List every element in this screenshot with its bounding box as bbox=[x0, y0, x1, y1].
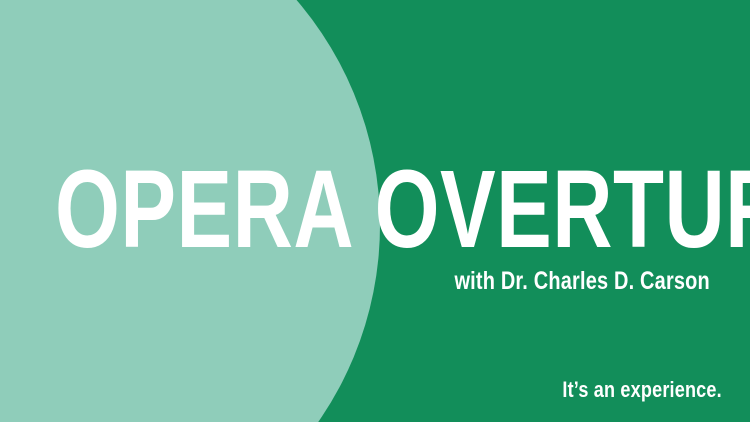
presenter-credit: with Dr. Charles D. Carson bbox=[455, 268, 710, 296]
slide-content: OPERA OVERTURES with Dr. Charles D. Cars… bbox=[0, 0, 750, 422]
promo-slide: OPERA OVERTURES with Dr. Charles D. Cars… bbox=[0, 0, 750, 422]
tagline: It’s an experience. bbox=[563, 379, 722, 404]
page-title: OPERA OVERTURES bbox=[55, 155, 695, 265]
